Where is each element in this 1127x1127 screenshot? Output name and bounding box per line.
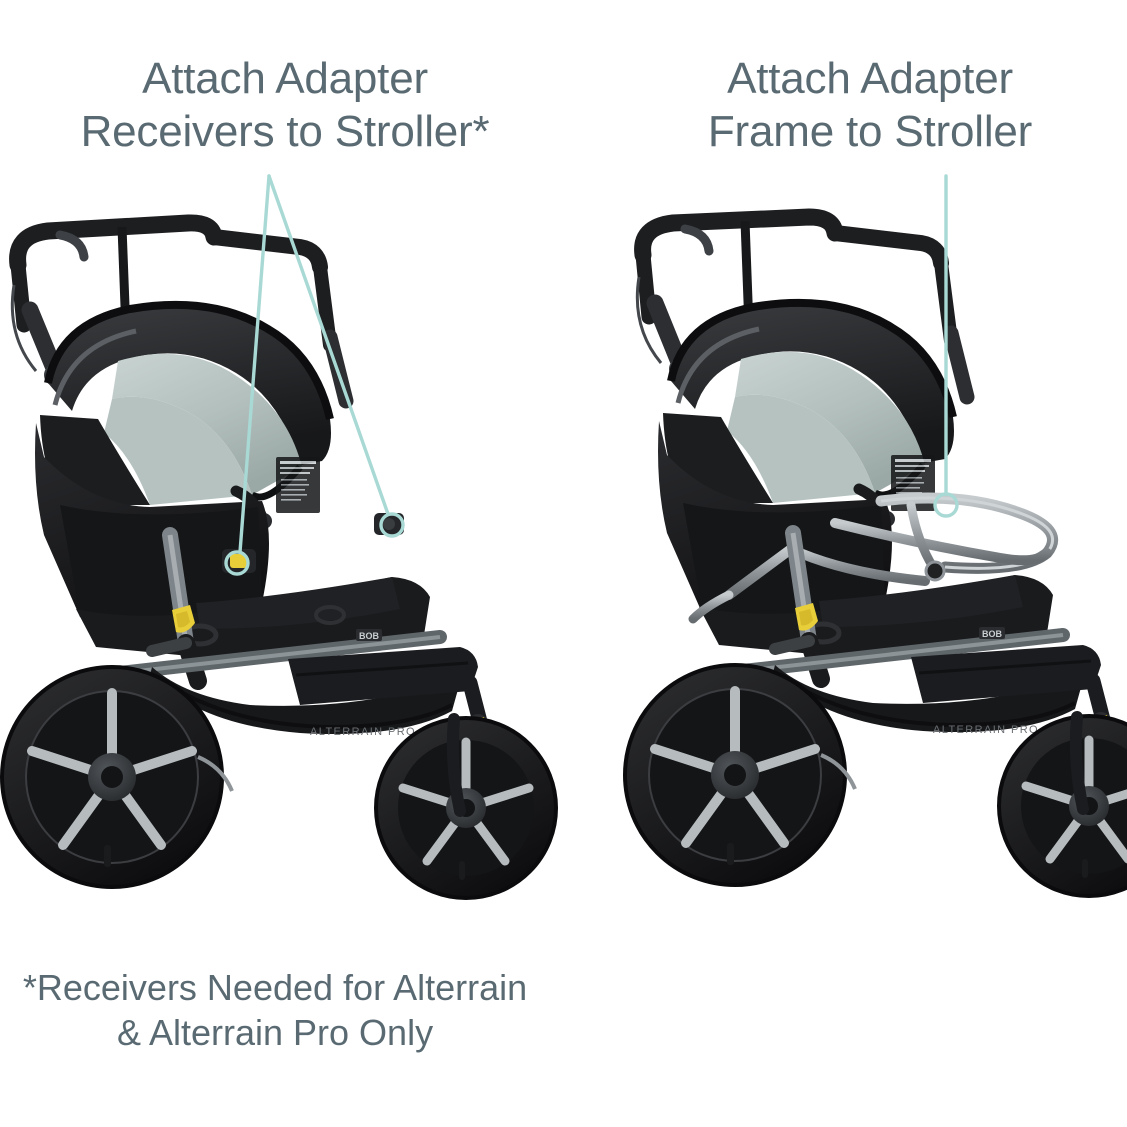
adapter-receiver-left [222,549,256,573]
valve-stem [727,843,734,865]
brand-logo-bob: BOB [979,627,1005,639]
adapter-receiver-right [374,513,404,535]
warning-label [276,457,320,513]
instruction-graphic: Attach Adapter Receivers to Stroller* At… [0,0,1127,1127]
svg-text:BOB: BOB [982,629,1003,639]
front-wheel [999,716,1127,896]
product-label-text: ALTERRAIN PRO [933,724,1039,736]
heading-left: Attach Adapter Receivers to Stroller* [35,52,535,158]
svg-text:BOB: BOB [359,631,380,641]
product-label-text: ALTERRAIN PRO [310,726,416,738]
front-wheel [376,718,556,898]
valve-stem [104,845,111,867]
stroller-illustration-right: ALTERRAIN PRO BOB [595,205,1127,925]
stroller-illustration-left: ALTERRAIN PRO BOB [0,205,560,925]
brand-logo-bob: BOB [356,629,382,641]
footnote-receivers-note: *Receivers Needed for Alterrain & Alterr… [10,965,540,1055]
heading-right: Attach Adapter Frame to Stroller [620,52,1120,158]
